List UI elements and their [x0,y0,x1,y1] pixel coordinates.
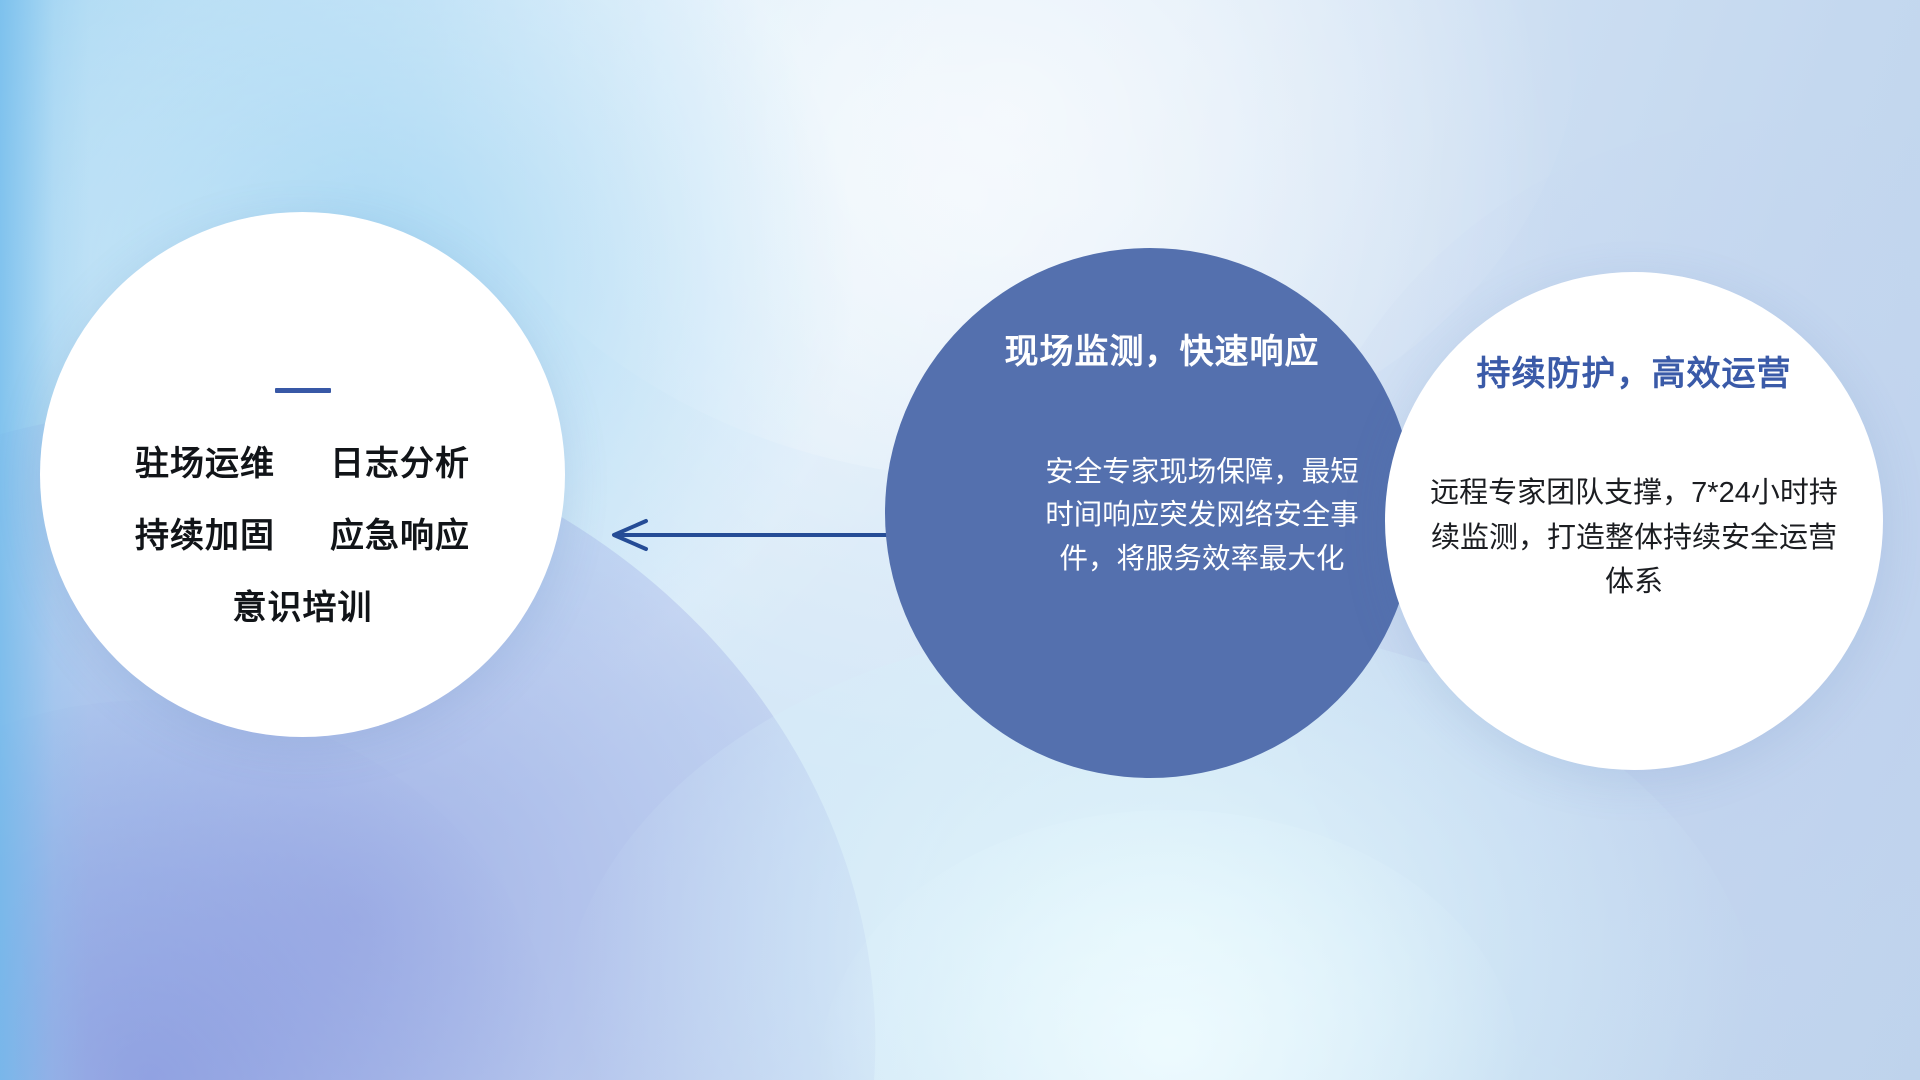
flow-arrow-icon [600,515,910,555]
middle-circle-title: 现场监测，快速响应 [949,324,1375,373]
keyword-label: 意识培训 [233,589,373,627]
middle-circle-body: 安全专家现场保障，最短时间响应突发网络安全事件，将服务效率最大化 [1037,451,1367,581]
keyword-row: 驻场运维 日志分析 [40,447,565,481]
left-circle-content: 驻场运维 日志分析 持续加固 应急响应 意识培训 [40,388,565,625]
right-circle-content: 持续防护，高效运营 远程专家团队支撑，7*24小时持续监测，打造整体持续安全运营… [1385,346,1883,605]
keyword-label: 持续加固 [135,517,275,555]
divider-dash [275,388,331,393]
keyword-label: 驻场运维 [135,445,275,483]
keyword-row: 持续加固 应急响应 [40,519,565,553]
right-operations-circle: 持续防护，高效运营 远程专家团队支撑，7*24小时持续监测，打造整体持续安全运营… [1385,272,1883,770]
keyword-label: 日志分析 [330,445,470,483]
keyword-row: 意识培训 [40,591,565,625]
middle-circle-content: 现场监测，快速响应 安全专家现场保障，最短时间响应突发网络安全事件，将服务效率最… [885,324,1415,581]
flow-arrow [600,515,910,560]
middle-onsite-circle: 现场监测，快速响应 安全专家现场保障，最短时间响应突发网络安全事件，将服务效率最… [885,248,1415,778]
left-capability-circle: 驻场运维 日志分析 持续加固 应急响应 意识培训 [40,212,565,737]
right-circle-body: 远程专家团队支撑，7*24小时持续监测，打造整体持续安全运营体系 [1419,471,1849,605]
right-circle-title: 持续防护，高效运营 [1407,346,1861,395]
keyword-label: 应急响应 [330,517,470,555]
